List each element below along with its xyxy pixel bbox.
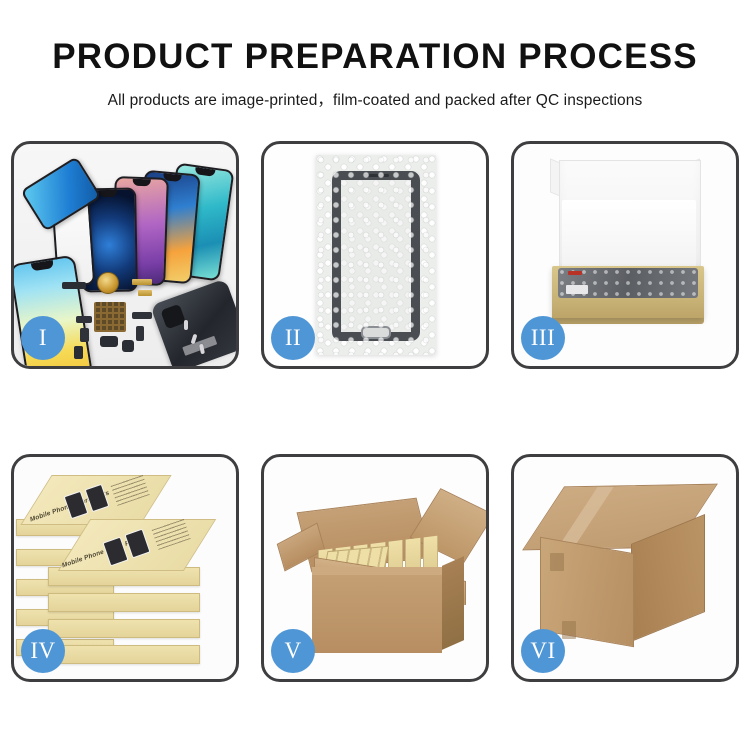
page-subtitle: All products are image-printed，film-coat… — [0, 77, 750, 110]
bubble-wrap-sheet — [316, 155, 436, 355]
flex-cable-icon — [132, 312, 152, 319]
process-step-panel-1: I — [11, 141, 239, 369]
carton-body-icon — [312, 575, 442, 653]
page-title: PRODUCT PREPARATION PROCESS — [0, 0, 750, 77]
phone-back-housing-icon — [150, 278, 236, 366]
process-step-panel-2: II — [261, 141, 489, 369]
phone-screen-icon — [332, 171, 420, 341]
vibration-motor-icon — [122, 340, 134, 352]
screw-tray-icon — [94, 302, 126, 332]
carton-side-icon — [442, 556, 464, 650]
gold-contact-icon — [138, 290, 152, 296]
header: PRODUCT PREPARATION PROCESS All products… — [0, 0, 750, 110]
red-marker-icon — [568, 271, 582, 275]
foam-insert-icon — [562, 200, 696, 272]
flex-cable-icon — [80, 328, 89, 342]
camera-module-icon — [160, 304, 186, 330]
carton-tab-icon — [550, 553, 564, 571]
earpiece-icon — [363, 174, 389, 177]
process-step-panel-5: V — [261, 454, 489, 682]
process-step-grid: I II III — [11, 141, 739, 682]
step-number-badge: IV — [21, 629, 65, 673]
step-number-badge: III — [521, 316, 565, 360]
step-number-badge: V — [271, 629, 315, 673]
gold-contact-icon — [132, 279, 152, 285]
step-number-badge: I — [21, 316, 65, 360]
flex-cable-icon — [136, 326, 144, 341]
sim-tray-icon — [74, 346, 83, 359]
kraft-box-icon — [48, 619, 200, 638]
kraft-box-icon — [48, 645, 200, 664]
wrapped-product-icon — [558, 268, 698, 298]
flex-cable-icon — [76, 316, 92, 323]
product-label-icon — [566, 285, 588, 294]
speaker-coil-icon — [97, 272, 119, 294]
step-number-badge: VI — [521, 629, 565, 673]
process-step-panel-4: Mobile Phone Spare Parts Mobile Phone Sp… — [11, 454, 239, 682]
process-step-panel-6: VI — [511, 454, 739, 682]
step-number-badge: II — [271, 316, 315, 360]
screwdriver-icon — [184, 320, 188, 330]
kraft-box-icon — [48, 593, 200, 612]
connector-strip-icon — [62, 282, 86, 289]
carton-tab-icon — [562, 621, 576, 639]
process-step-panel-3: III — [511, 141, 739, 369]
home-button-icon — [361, 326, 391, 339]
battery-connector-icon — [100, 336, 118, 347]
